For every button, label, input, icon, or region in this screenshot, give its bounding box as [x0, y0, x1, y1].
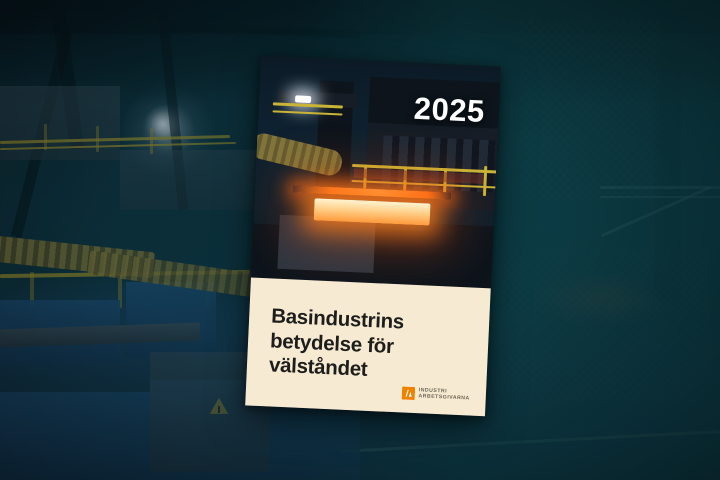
screenshot-stage: 2025 Basindustrins betydelse för välstån…	[0, 0, 720, 480]
cover-photo: 2025	[251, 56, 501, 297]
work-lamp	[295, 95, 311, 103]
cover-title: Basindustrins betydelse för välståndet	[268, 304, 471, 387]
report-cover[interactable]: 2025 Basindustrins betydelse för välstån…	[245, 56, 501, 417]
logo-name-line-2: ARBETSGIVARNA	[418, 394, 470, 403]
logo-wordmark: INDUSTRI ARBETSGIVARNA	[418, 387, 470, 403]
cover-year-label: 2025	[413, 91, 486, 130]
mill-roller-housing	[421, 223, 493, 274]
mill-pedestal	[277, 215, 375, 273]
cover-text-panel: Basindustrins betydelse för välståndet I…	[245, 278, 491, 417]
logo-mark-icon	[401, 386, 415, 400]
industriarbetsgivarna-logo: INDUSTRI ARBETSGIVARNA	[401, 386, 470, 402]
